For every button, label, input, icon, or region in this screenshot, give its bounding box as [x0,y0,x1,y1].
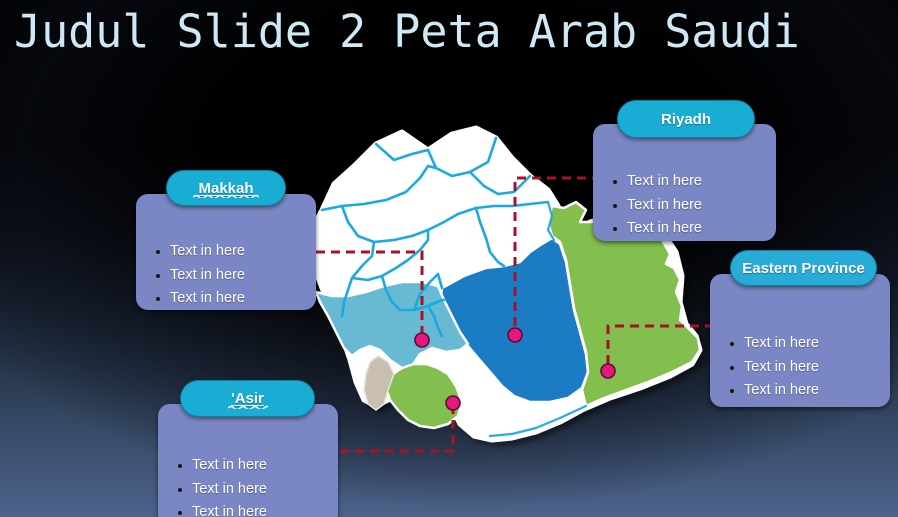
callout-body-asir: Text in here Text in here Text in here [158,404,338,517]
list-item: Text in here [176,478,267,502]
map-marker-riyadh [508,328,522,342]
bullet-list-makkah: Text in here Text in here Text in here [154,240,245,311]
connector-asir [336,395,466,465]
list-item: Text in here [176,501,267,517]
list-item: Text in here [154,240,245,264]
map-marker-eastern [601,364,615,378]
spellcheck-squiggle-icon [228,405,268,409]
callout-body-eastern-province: Text in here Text in here Text in here [710,274,890,407]
list-item: Text in here [728,332,819,356]
connector-makkah [312,240,432,350]
list-item: Text in here [728,379,819,403]
list-item: Text in here [176,454,267,478]
callout-header-asir[interactable]: 'Asir [180,380,315,417]
callout-header-makkah[interactable]: Makkah [166,170,286,206]
callout-body-makkah: Text in here Text in here Text in here [136,194,316,310]
bullet-list-riyadh: Text in here Text in here Text in here [611,170,702,241]
map-marker-asir [446,396,460,410]
list-item: Text in here [154,264,245,288]
page-title: Judul Slide 2 Peta Arab Saudi [14,2,800,62]
callout-header-label: Riyadh [661,111,711,128]
callout-header-label: Eastern Province [742,260,865,277]
list-item: Text in here [154,287,245,311]
list-item: Text in here [611,170,702,194]
list-item: Text in here [611,194,702,218]
callout-header-eastern-province[interactable]: Eastern Province [730,250,877,286]
callout-body-riyadh: Text in here Text in here Text in here [593,124,776,241]
list-item: Text in here [728,356,819,380]
bullet-list-asir: Text in here Text in here Text in here [176,454,267,517]
connector-eastern [598,318,718,388]
connector-riyadh [505,170,605,350]
bullet-list-eastern-province: Text in here Text in here Text in here [728,332,819,403]
slide-canvas: Judul Slide 2 Peta Arab Saudi [0,0,898,517]
callout-header-riyadh[interactable]: Riyadh [617,100,755,138]
spellcheck-squiggle-icon [193,194,259,198]
map-marker-makkah [415,333,429,347]
list-item: Text in here [611,217,702,241]
